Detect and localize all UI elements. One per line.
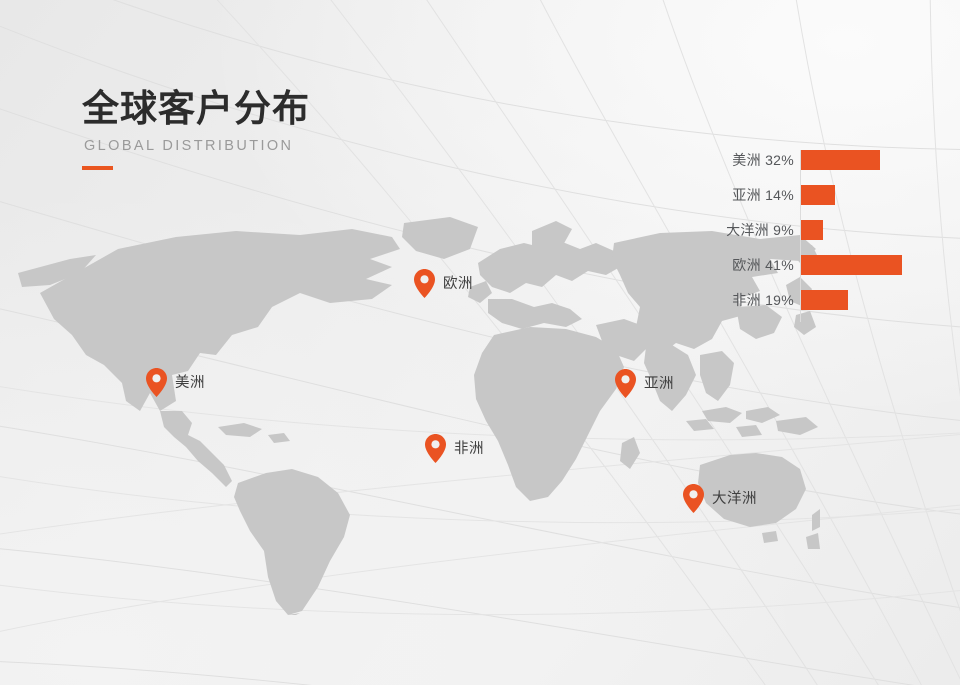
map-marker-asia[interactable]: 亚洲 bbox=[615, 369, 674, 398]
world-map bbox=[0, 215, 820, 615]
accent-underline bbox=[82, 166, 113, 170]
map-pin-icon bbox=[425, 434, 446, 463]
bar-fill bbox=[801, 255, 902, 275]
map-marker-africa[interactable]: 非洲 bbox=[425, 434, 484, 463]
map-marker-label: 亚洲 bbox=[644, 372, 674, 393]
map-marker-label: 非洲 bbox=[454, 437, 484, 458]
bar-track bbox=[801, 290, 940, 310]
map-marker-label: 欧洲 bbox=[443, 272, 473, 293]
bar-track bbox=[801, 150, 940, 170]
bar-row[interactable]: 欧洲 41% bbox=[700, 255, 940, 275]
distribution-bar-chart: 美洲 32% 亚洲 14% 大洋洲 9% 欧洲 41% 非洲 19% bbox=[700, 150, 940, 330]
bar-label: 欧洲 41% bbox=[700, 255, 794, 275]
map-marker-europe[interactable]: 欧洲 bbox=[414, 269, 473, 298]
map-marker-oceania[interactable]: 大洋洲 bbox=[683, 484, 757, 513]
bar-row[interactable]: 非洲 19% bbox=[700, 290, 940, 310]
bar-track bbox=[801, 255, 940, 275]
bar-track bbox=[801, 220, 940, 240]
map-pin-icon bbox=[683, 484, 704, 513]
bar-label: 大洋洲 9% bbox=[700, 220, 794, 240]
page-subtitle: GLOBAL DISTRIBUTION bbox=[84, 138, 502, 154]
bar-label: 非洲 19% bbox=[700, 290, 794, 310]
bar-fill bbox=[801, 185, 835, 205]
map-marker-label: 大洋洲 bbox=[712, 487, 757, 508]
bar-row[interactable]: 美洲 32% bbox=[700, 150, 940, 170]
map-marker-americas[interactable]: 美洲 bbox=[146, 368, 205, 397]
bar-track bbox=[801, 185, 940, 205]
slide-canvas: 全球客户分布 GLOBAL DISTRIBUTION bbox=[0, 0, 960, 685]
bar-label: 美洲 32% bbox=[700, 150, 794, 170]
page-title: 全球客户分布 bbox=[82, 88, 502, 131]
bar-row[interactable]: 亚洲 14% bbox=[700, 185, 940, 205]
bar-fill bbox=[801, 150, 880, 170]
bar-label: 亚洲 14% bbox=[700, 185, 794, 205]
map-pin-icon bbox=[414, 269, 435, 298]
bar-fill bbox=[801, 220, 823, 240]
header-block: 全球客户分布 GLOBAL DISTRIBUTION bbox=[82, 88, 502, 170]
map-pin-icon bbox=[615, 369, 636, 398]
map-marker-label: 美洲 bbox=[175, 371, 205, 392]
bar-row[interactable]: 大洋洲 9% bbox=[700, 220, 940, 240]
bar-fill bbox=[801, 290, 848, 310]
map-pin-icon bbox=[146, 368, 167, 397]
